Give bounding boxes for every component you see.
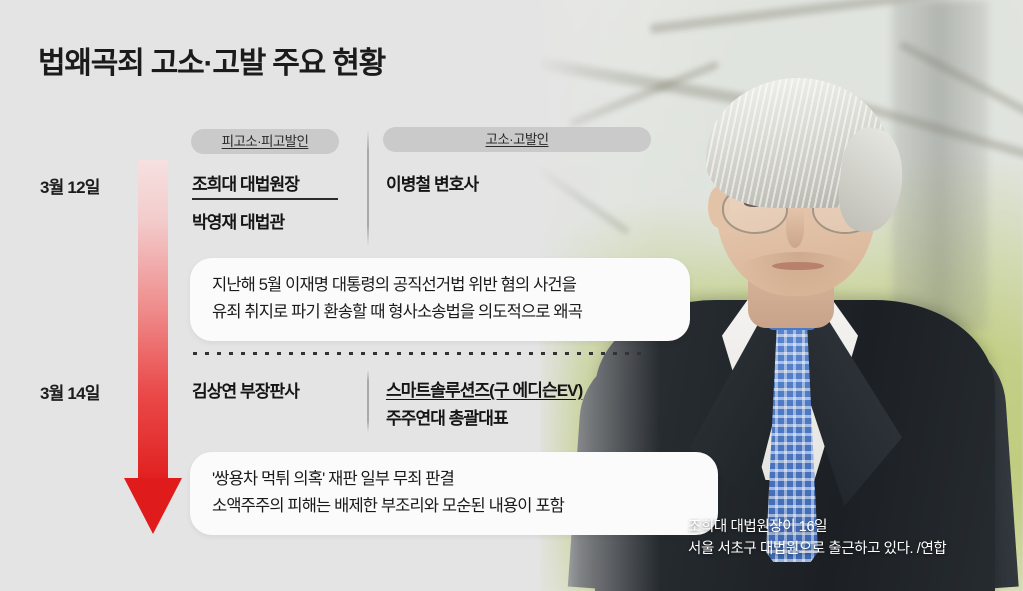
plaintiff-name-row2-2: 주주연대 총괄대표: [386, 404, 508, 429]
detail-card-row1: 지난해 5월 이재명 대통령의 공직선거법 위반 혐의 사건을 유죄 취지로 파…: [190, 258, 690, 341]
mouth: [772, 262, 824, 270]
detail-card-row1-line1: 지난해 5월 이재명 대통령의 공직선거법 위반 혐의 사건을: [212, 272, 668, 299]
detail-card-row2: '쌍용차 먹튀 의혹' 재판 일부 무죄 판결 소액주주의 피해는 배제한 부조…: [190, 452, 718, 535]
column-divider-row2: [367, 370, 369, 432]
photo-caption: 조희대 대법원장이 16일 서울 서초구 대법원으로 출근하고 있다. /연합: [688, 516, 946, 561]
detail-card-row2-line1: '쌍용차 먹튀 의혹' 재판 일부 무죄 판결: [212, 466, 696, 493]
photo-caption-line1: 조희대 대법원장이 16일: [688, 516, 946, 538]
timeline-date-1: 3월 12일: [40, 173, 100, 198]
down-arrow-icon: [118, 160, 188, 540]
column-header-accused: 피고소·피고발인: [191, 129, 339, 154]
detail-card-row2-line2: 소액주주의 피해는 배제한 부조리와 모순된 내용이 포함: [212, 493, 696, 520]
plaintiff-name-row2-1: 스마트솔루션즈(구 에디슨EV): [386, 376, 582, 401]
accused-name-row1-2: 박영재 대법관: [192, 208, 284, 233]
column-divider-row1: [367, 130, 369, 246]
photo-caption-line2: 서울 서초구 대법원으로 출근하고 있다. /연합: [688, 538, 946, 560]
timeline-date-2: 3월 14일: [40, 379, 100, 404]
row-separator-dotted: [193, 352, 641, 355]
column-header-accused-label: 피고소·피고발인: [222, 134, 309, 149]
page-title: 법왜곡죄 고소·고발 주요 현황: [38, 38, 385, 82]
column-header-plaintiff-label: 고소·고발인: [486, 132, 549, 147]
accused-name-row2-1: 김상연 부장판사: [192, 377, 299, 402]
jaw-shadow: [736, 252, 860, 296]
accused-name-row1-1: 조희대 대법원장: [192, 170, 299, 195]
column-header-plaintiff: 고소·고발인: [383, 127, 651, 152]
plaintiff-name-row1-1: 이병철 변호사: [386, 170, 478, 195]
detail-card-row1-line2: 유죄 취지로 파기 환송할 때 형사소송법을 의도적으로 왜곡: [212, 299, 668, 326]
accused-name-separator: [192, 198, 338, 200]
infographic-canvas: 법왜곡죄 고소·고발 주요 현황 3월 12일 피고소·피고발인 고소·고발인 …: [0, 0, 1023, 591]
